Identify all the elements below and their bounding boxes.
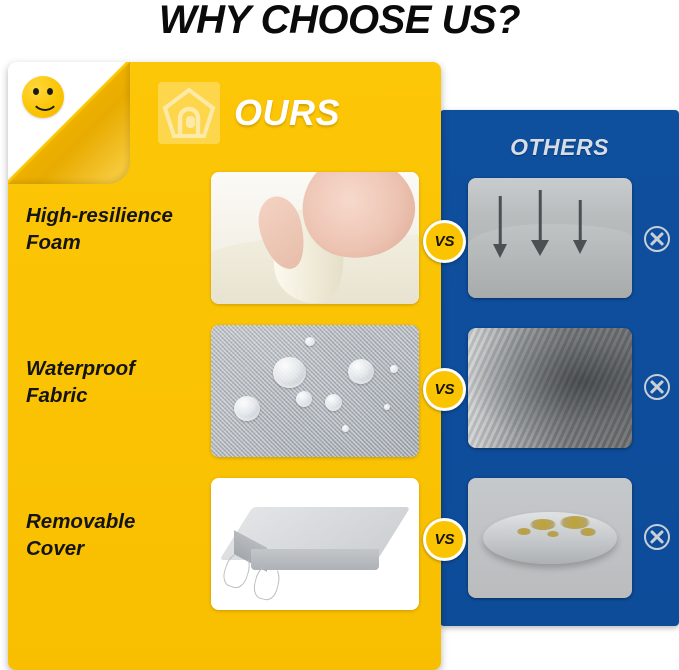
others-image-stained-cushion <box>468 478 632 598</box>
ours-image-fabric <box>211 325 419 457</box>
water-droplet <box>342 425 349 432</box>
others-image-foam-sinking <box>468 178 632 298</box>
foam-sinking-arrows-photo <box>468 178 632 298</box>
feature-row-cover: Removable Cover <box>8 470 441 618</box>
stain-spot <box>530 519 556 530</box>
water-droplet <box>348 359 374 384</box>
water-droplet <box>390 365 398 373</box>
feature-row-fabric: Waterproof Fabric <box>8 317 441 465</box>
vs-badge: VS <box>423 368 466 411</box>
vs-badge: VS <box>423 518 466 561</box>
ours-heading: OURS <box>234 92 340 134</box>
stained-round-cushion-photo <box>468 478 632 598</box>
water-droplet <box>305 337 315 346</box>
circled-x-icon <box>644 524 670 550</box>
water-droplet <box>234 396 260 421</box>
water-droplet <box>273 357 306 388</box>
smiley-face-icon <box>22 76 64 118</box>
feature-row-foam: High-resilience Foam <box>8 164 441 312</box>
stain-spot <box>547 531 559 537</box>
ours-image-cover <box>211 478 419 610</box>
feature-label-cover: Removable Cover <box>26 508 198 562</box>
page-title: WHY CHOOSE US? <box>0 0 679 43</box>
circled-x-icon <box>644 226 670 252</box>
ours-image-foam <box>211 172 419 304</box>
wet-stained-fabric-photo <box>468 328 632 448</box>
hand-pinching-foam-photo <box>211 172 419 304</box>
others-image-wet-fabric <box>468 328 632 448</box>
foam-surface <box>468 224 632 298</box>
ours-brand-row: OURS <box>158 82 340 144</box>
ours-panel: OURS High-resilience Foam Waterproof Fab… <box>8 62 441 670</box>
vs-badge: VS <box>423 220 466 263</box>
circled-x-icon <box>644 374 670 400</box>
water-droplet <box>384 404 390 410</box>
water-droplet <box>296 391 312 407</box>
feature-label-foam: High-resilience Foam <box>26 202 198 256</box>
house-pentagon-logo-icon <box>158 82 220 144</box>
others-heading: OTHERS <box>440 134 679 161</box>
gray-cushion-with-ties-photo <box>211 478 419 610</box>
water-droplets-on-fabric-photo <box>211 325 419 457</box>
water-droplet <box>325 394 342 411</box>
feature-label-fabric: Waterproof Fabric <box>26 355 198 409</box>
